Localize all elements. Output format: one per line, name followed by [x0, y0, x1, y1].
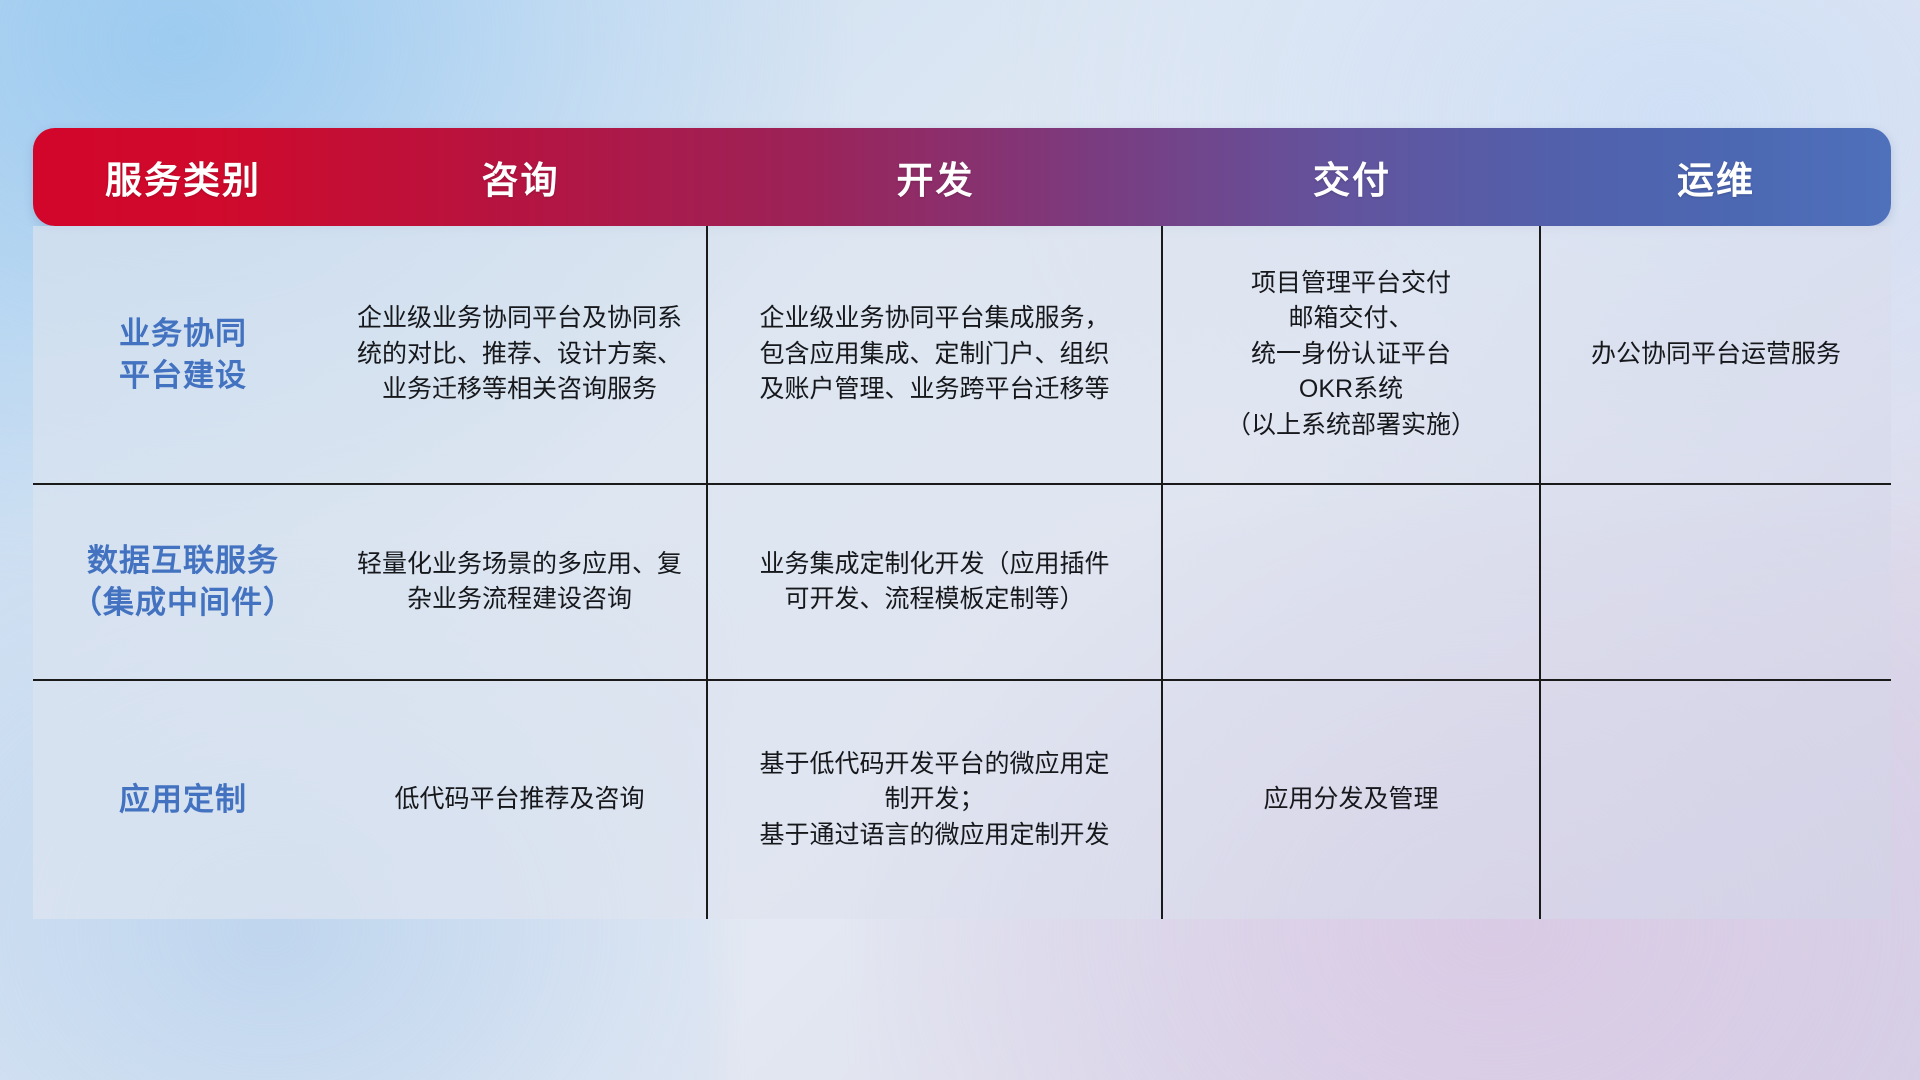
row-category-label: 业务协同 平台建设: [33, 226, 333, 483]
column-header-development: 开发: [708, 128, 1163, 226]
cell-operations: 办公协同平台运营服务: [1541, 226, 1891, 483]
cell-delivery: [1163, 485, 1541, 679]
column-header-category: 服务类别: [33, 128, 333, 226]
table-body: 业务协同 平台建设 企业级业务协同平台及协同系 统的对比、推荐、设计方案、 业务…: [33, 226, 1891, 919]
cell-consulting: 企业级业务协同平台及协同系 统的对比、推荐、设计方案、 业务迁移等相关咨询服务: [333, 226, 708, 483]
table-row: 业务协同 平台建设 企业级业务协同平台及协同系 统的对比、推荐、设计方案、 业务…: [33, 226, 1891, 485]
table-row: 数据互联服务 （集成中间件） 轻量化业务场景的多应用、复 杂业务流程建设咨询 业…: [33, 485, 1891, 681]
cell-consulting: 低代码平台推荐及咨询: [333, 681, 708, 919]
table-header-row: 服务类别 咨询 开发 交付 运维: [33, 128, 1891, 226]
cell-operations: [1541, 485, 1891, 679]
cell-development: 业务集成定制化开发（应用插件 可开发、流程模板定制等）: [708, 485, 1163, 679]
cell-development: 企业级业务协同平台集成服务， 包含应用集成、定制门户、组织 及账户管理、业务跨平…: [708, 226, 1163, 483]
row-category-label: 应用定制: [33, 681, 333, 919]
cell-consulting: 轻量化业务场景的多应用、复 杂业务流程建设咨询: [333, 485, 708, 679]
cell-operations: [1541, 681, 1891, 919]
cell-delivery: 项目管理平台交付 邮箱交付、 统一身份认证平台 OKR系统 （以上系统部署实施）: [1163, 226, 1541, 483]
column-header-delivery: 交付: [1163, 128, 1541, 226]
column-header-consulting: 咨询: [333, 128, 708, 226]
cell-delivery: 应用分发及管理: [1163, 681, 1541, 919]
table-row: 应用定制 低代码平台推荐及咨询 基于低代码开发平台的微应用定 制开发； 基于通过…: [33, 681, 1891, 919]
column-header-operations: 运维: [1541, 128, 1891, 226]
service-matrix-table: 服务类别 咨询 开发 交付 运维 业务协同 平台建设 企业级业务协同平台及协同系…: [33, 128, 1891, 919]
row-category-label: 数据互联服务 （集成中间件）: [33, 485, 333, 679]
cell-development: 基于低代码开发平台的微应用定 制开发； 基于通过语言的微应用定制开发: [708, 681, 1163, 919]
